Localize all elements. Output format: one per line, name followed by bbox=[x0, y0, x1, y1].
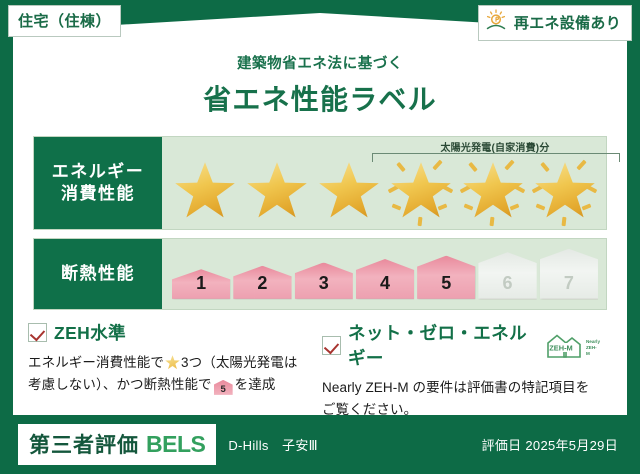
title-block: 建築物省エネ法に基づく 省エネ性能ラベル bbox=[0, 52, 640, 118]
zeh-standard-section: ZEH水準 エネルギー消費性能で3つ（太陽光発電は考慮しない）、かつ断熱性能で5… bbox=[28, 320, 306, 396]
insulation-grade-number: 6 bbox=[503, 273, 513, 294]
star-rating-item bbox=[242, 157, 312, 225]
insulation-grade-number: 2 bbox=[257, 273, 267, 294]
star-sparkle-icon bbox=[468, 162, 477, 172]
insulation-grade-house: 3 bbox=[295, 262, 353, 299]
checked-checkbox-icon bbox=[322, 336, 341, 355]
zeh-m-tag-line1: Nearly bbox=[586, 339, 600, 344]
checked-checkbox-icon bbox=[28, 323, 47, 342]
star-icon bbox=[462, 161, 524, 221]
star-icon bbox=[318, 161, 380, 221]
bels-logo-text: BELS bbox=[146, 431, 205, 458]
star-sparkle-icon bbox=[490, 217, 495, 226]
star-sparkle-icon bbox=[576, 160, 586, 171]
star-rating-item bbox=[458, 157, 528, 225]
star-icon bbox=[174, 161, 236, 221]
zeh-m-house-icon: ZEH-M bbox=[544, 332, 584, 359]
star-rating-item bbox=[170, 157, 240, 225]
zeh-star-count: 3つ bbox=[181, 355, 202, 370]
zeh-m-logo-tag: Nearly ZEH-M bbox=[586, 339, 600, 358]
star-sparkle-icon bbox=[540, 162, 549, 172]
star-sparkle-icon bbox=[562, 217, 567, 226]
star-sparkle-icon bbox=[438, 203, 448, 210]
zeh-desc-part1: エネルギー消費性能で bbox=[28, 355, 164, 370]
star-icon bbox=[246, 161, 308, 221]
star-sparkle-icon bbox=[418, 217, 423, 226]
renewable-equipment-label: 再エネ設備あり bbox=[514, 12, 621, 33]
insulation-performance-panel: 断熱性能 1234567 bbox=[33, 238, 607, 310]
star-sparkle-icon bbox=[504, 160, 514, 171]
insulation-grade-number: 5 bbox=[441, 273, 451, 294]
star-sparkle-icon bbox=[432, 160, 442, 171]
label-main-title: 省エネ性能ラベル bbox=[0, 78, 640, 118]
third-party-eval-label: 第三者評価 bbox=[29, 429, 139, 459]
sun-renewable-icon bbox=[485, 9, 509, 36]
bels-badge: 第三者評価 BELS bbox=[18, 424, 216, 465]
star-rating-item bbox=[386, 157, 456, 225]
solar-generation-note: 太陽光発電(自家消費)分 bbox=[370, 139, 620, 154]
star-rating-item bbox=[314, 157, 384, 225]
insulation-grade-house: 1 bbox=[172, 269, 230, 299]
star-sparkle-icon bbox=[536, 203, 546, 210]
energy-rating-body: 太陽光発電(自家消費)分 bbox=[162, 137, 606, 229]
insulation-grade-number: 3 bbox=[319, 273, 329, 294]
net-zero-energy-section: ネット・ゼロ・エネルギー ZEH-M Nearly ZEH-M Nearly Z… bbox=[322, 320, 600, 421]
star-sparkle-icon bbox=[464, 203, 474, 210]
building-name: D-Hills 子安Ⅲ bbox=[228, 435, 318, 454]
net-zero-energy-title: ネット・ゼロ・エネルギー bbox=[348, 320, 534, 370]
insulation-grade-house: 2 bbox=[233, 266, 291, 299]
insulation-label: 断熱性能 bbox=[61, 263, 135, 285]
label-subtitle: 建築物省エネ法に基づく bbox=[0, 52, 640, 73]
energy-label-line1: エネルギー bbox=[52, 161, 145, 183]
zeh-m-logo: ZEH-M Nearly ZEH-M bbox=[544, 332, 600, 359]
insulation-grade-house: 5 bbox=[417, 256, 475, 300]
svg-text:ZEH-M: ZEH-M bbox=[549, 343, 572, 352]
insulation-performance-label-box: 断熱性能 bbox=[34, 239, 162, 309]
zeh-standard-title: ZEH水準 bbox=[54, 320, 126, 345]
star-icon bbox=[534, 161, 596, 221]
star-rating-item bbox=[530, 157, 600, 225]
inline-star-icon bbox=[165, 355, 180, 370]
building-type-label: 住宅（住棟） bbox=[18, 13, 111, 30]
insulation-grade-house: 4 bbox=[356, 259, 414, 299]
inline-house-icon: 5 bbox=[214, 380, 233, 395]
energy-performance-label: 住宅（住棟） 再エネ設備あり 建築物省エネ法に基づく 省エネ性能ラベル bbox=[0, 0, 640, 474]
zeh-standard-heading: ZEH水準 bbox=[28, 320, 306, 345]
evaluation-date: 評価日 2025年5月29日 bbox=[482, 435, 618, 454]
net-zero-energy-heading: ネット・ゼロ・エネルギー ZEH-M Nearly ZEH-M bbox=[322, 320, 600, 370]
house-rating-row: 1234567 bbox=[172, 249, 598, 299]
renewable-equipment-badge: 再エネ設備あり bbox=[478, 5, 632, 41]
insulation-grade-house: 6 bbox=[478, 252, 536, 299]
footer-bar: 第三者評価 BELS D-Hills 子安Ⅲ 評価日 2025年5月29日 bbox=[0, 415, 640, 474]
star-icon bbox=[390, 161, 452, 221]
insulation-rating-body: 1234567 bbox=[162, 239, 606, 309]
zeh-standard-description: エネルギー消費性能で3つ（太陽光発電は考慮しない）、かつ断熱性能で5を達成 bbox=[28, 352, 306, 396]
star-rating-row bbox=[170, 157, 600, 225]
zeh-m-tag-line2: ZEH-M bbox=[586, 345, 597, 356]
energy-performance-panel: エネルギー 消費性能 太陽光発電(自家消費)分 bbox=[33, 136, 607, 230]
zeh-desc-part3: を達成 bbox=[235, 377, 276, 392]
insulation-grade-number: 4 bbox=[380, 273, 390, 294]
insulation-grade-number: 1 bbox=[196, 273, 206, 294]
building-type-badge: 住宅（住棟） bbox=[8, 5, 121, 37]
star-sparkle-icon bbox=[582, 203, 592, 210]
energy-label-line2: 消費性能 bbox=[61, 183, 135, 205]
energy-performance-label-box: エネルギー 消費性能 bbox=[34, 137, 162, 229]
insulation-grade-number: 7 bbox=[564, 273, 574, 294]
star-sparkle-icon bbox=[392, 203, 402, 210]
star-sparkle-icon bbox=[396, 162, 405, 172]
star-sparkle-icon bbox=[510, 203, 520, 210]
insulation-grade-house: 7 bbox=[540, 249, 598, 299]
